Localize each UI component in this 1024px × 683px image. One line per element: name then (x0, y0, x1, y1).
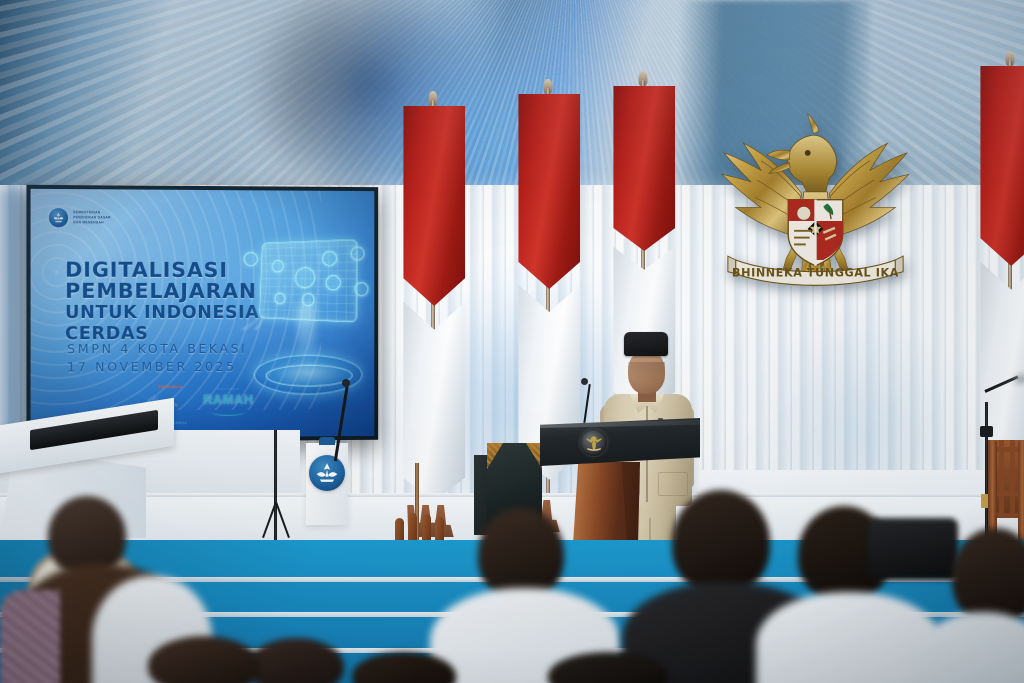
carved-figure (408, 513, 417, 543)
microphone-capsule (342, 379, 350, 387)
screen-surface: KEMENTERIAN PENDIDIKAN DASAR DAN MENENGA… (31, 189, 375, 438)
screen-vignette (31, 189, 375, 438)
garuda-seal-icon (580, 429, 607, 456)
floor-microphone-stand-left (262, 430, 292, 540)
flag-red-band (613, 86, 675, 251)
side-lectern (0, 412, 174, 532)
mic-stand-leg (275, 502, 290, 538)
microphone-rod (334, 384, 349, 461)
flag-cloth (403, 106, 465, 506)
carpet-shading (0, 540, 1024, 683)
speaker-face-shadow (628, 362, 665, 394)
event-photograph: BHINNEKA TUNGGAL IKA (0, 0, 1024, 683)
peci-songkok-cap (624, 332, 668, 356)
carved-wooden-chair (988, 440, 1024, 550)
ornamented-dark-panel (487, 443, 542, 533)
presentation-screen: KEMENTERIAN PENDIDIKAN DASAR DAN MENENGA… (26, 185, 378, 442)
gold-corner-ornament-left (487, 443, 503, 469)
flag-white-band (403, 302, 465, 502)
flag-red-band (403, 106, 465, 306)
garuda-motto-text: BHINNEKA TUNGGAL IKA (732, 267, 899, 280)
wooden-carved-figures (395, 511, 447, 543)
mic-stand-pole (274, 430, 277, 540)
chair-post-left (988, 440, 997, 544)
mic-stand-clamp (980, 426, 993, 437)
garuda-pancasila-emblem: BHINNEKA TUNGGAL IKA (718, 112, 913, 297)
microphone-head (1014, 373, 1024, 384)
screen-microphone-boom (328, 384, 368, 464)
indonesian-flag-1 (398, 100, 468, 530)
flag-red-band (980, 66, 1024, 266)
lectern-microphone-capsule (581, 378, 588, 385)
carved-figure (422, 514, 431, 543)
mic-stand-boom-arm (984, 375, 1018, 392)
pancasila-shield (788, 200, 843, 266)
chair-post-right (1018, 440, 1024, 544)
flag-red-band (518, 94, 580, 289)
